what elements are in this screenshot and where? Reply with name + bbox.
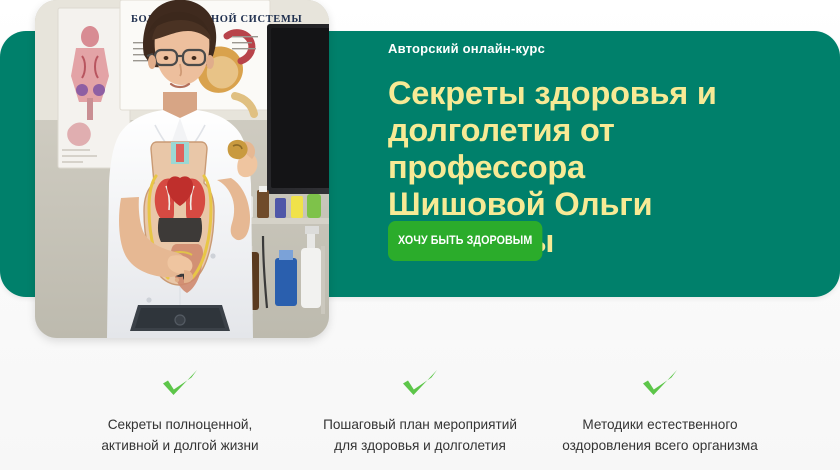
feature-item: Секреты полноценной, активной и долгой ж… — [62, 368, 298, 456]
hero-kicker: Авторский онлайн-курс — [388, 41, 788, 57]
check-icon — [161, 368, 199, 398]
cta-button[interactable]: ХОЧУ БЫТЬ ЗДОРОВЫМ — [388, 221, 542, 261]
feature-item: Пошаговый план мероприятий для здоровья … — [302, 368, 538, 456]
landing-page-hero: Авторский онлайн-курс Секреты здоровья и… — [0, 0, 840, 470]
check-icon — [641, 368, 679, 398]
feature-text: Пошаговый план мероприятий для здоровья … — [302, 414, 538, 456]
instructor-photo: БОЛЕЗНИ ЛЬНОЙ СИСТЕМЫ — [35, 0, 329, 338]
check-icon — [401, 368, 439, 398]
feature-text: Методики естественного оздоровления всег… — [542, 414, 778, 456]
feature-text: Секреты полноценной, активной и долгой ж… — [62, 414, 298, 456]
feature-item: Методики естественного оздоровления всег… — [542, 368, 778, 456]
features-row: Секреты полноценной, активной и долгой ж… — [0, 368, 840, 456]
